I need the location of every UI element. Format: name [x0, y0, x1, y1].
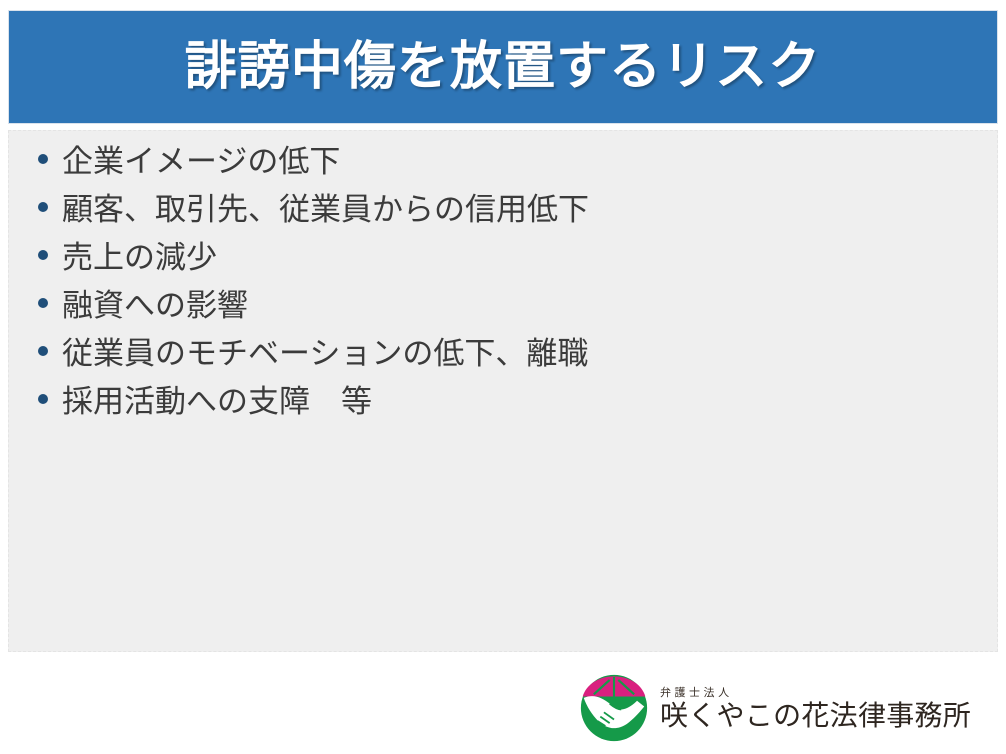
list-item-label: 融資への影響: [62, 282, 248, 330]
list-item-label: 顧客、取引先、従業員からの信用低下: [62, 186, 589, 234]
list-item-label: 採用活動への支障 等: [62, 378, 372, 426]
bullet-dot-icon: [38, 394, 48, 404]
risk-bullet-list: 企業イメージの低下 顧客、取引先、従業員からの信用低下 売上の減少 融資への影響…: [38, 138, 589, 426]
bullet-dot-icon: [38, 154, 48, 164]
slide: 誹謗中傷を放置するリスク 企業イメージの低下 顧客、取引先、従業員からの信用低下…: [8, 10, 998, 652]
firm-logo-kicker: 弁護士法人: [660, 686, 971, 699]
firm-logo-text: 弁護士法人 咲くやこの花法律事務所: [660, 686, 971, 731]
bullet-dot-icon: [38, 250, 48, 260]
list-item: 採用活動への支障 等: [38, 378, 589, 426]
list-item: 売上の減少: [38, 234, 589, 282]
firm-logo-name: 咲くやこの花法律事務所: [660, 701, 971, 730]
slide-title-banner: 誹謗中傷を放置するリスク: [8, 10, 998, 124]
list-item: 融資への影響: [38, 282, 589, 330]
list-item: 従業員のモチベーションの低下、離職: [38, 330, 589, 378]
firm-logo: 弁護士法人 咲くやこの花法律事務所: [578, 668, 998, 748]
bullet-dot-icon: [38, 346, 48, 356]
list-item-label: 売上の減少: [62, 234, 217, 282]
list-item: 企業イメージの低下: [38, 138, 589, 186]
bullet-dot-icon: [38, 202, 48, 212]
list-item: 顧客、取引先、従業員からの信用低下: [38, 186, 589, 234]
page-title: 誹謗中傷を放置するリスク: [185, 41, 821, 93]
list-item-label: 企業イメージの低下: [62, 138, 340, 186]
list-item-label: 従業員のモチベーションの低下、離職: [62, 330, 588, 378]
handshake-flower-logo-icon: [578, 672, 650, 744]
bullet-dot-icon: [38, 298, 48, 308]
